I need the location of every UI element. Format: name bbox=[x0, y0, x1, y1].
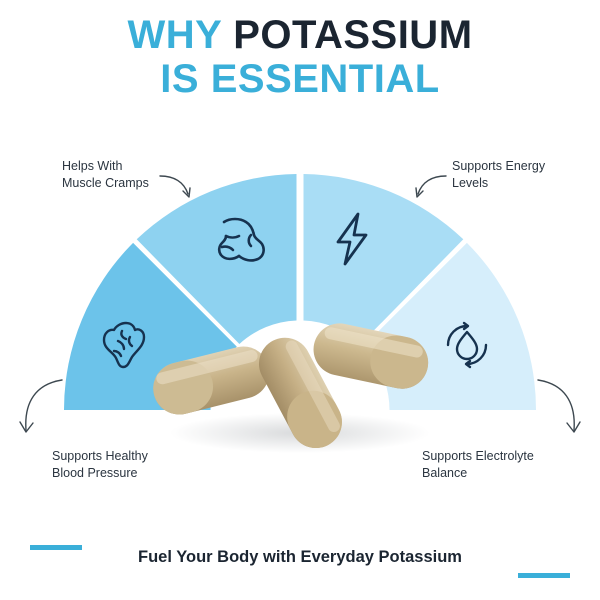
arrow-blood-pressure-icon bbox=[18, 378, 66, 440]
supplement-capsules bbox=[130, 300, 470, 460]
footer-rule-right bbox=[518, 573, 570, 578]
title-potassium: POTASSIUM bbox=[233, 13, 472, 57]
title-line-2: IS ESSENTIAL bbox=[0, 58, 600, 100]
capsule-right bbox=[309, 319, 433, 394]
footer-tagline: Fuel Your Body with Everyday Potassium bbox=[0, 548, 600, 567]
title-why: WHY bbox=[127, 13, 233, 57]
callout-blood-pressure: Supports Healthy Blood Pressure bbox=[52, 448, 148, 482]
callout-electrolyte-balance: Supports Electrolyte Balance bbox=[422, 448, 534, 482]
arrow-energy-icon bbox=[406, 172, 448, 204]
bicep-icon bbox=[210, 210, 270, 271]
capsule-left bbox=[148, 341, 275, 420]
callout-muscle-cramps: Helps With Muscle Cramps bbox=[62, 158, 149, 192]
bolt-icon bbox=[328, 210, 376, 273]
capsules-svg bbox=[130, 300, 470, 460]
arrow-muscle-icon bbox=[158, 172, 198, 204]
callout-energy-levels: Supports Energy Levels bbox=[452, 158, 545, 192]
title-line-1: WHY POTASSIUM bbox=[0, 14, 600, 56]
page-title: WHY POTASSIUM IS ESSENTIAL bbox=[0, 14, 600, 100]
arrow-electrolyte-icon bbox=[534, 378, 582, 440]
